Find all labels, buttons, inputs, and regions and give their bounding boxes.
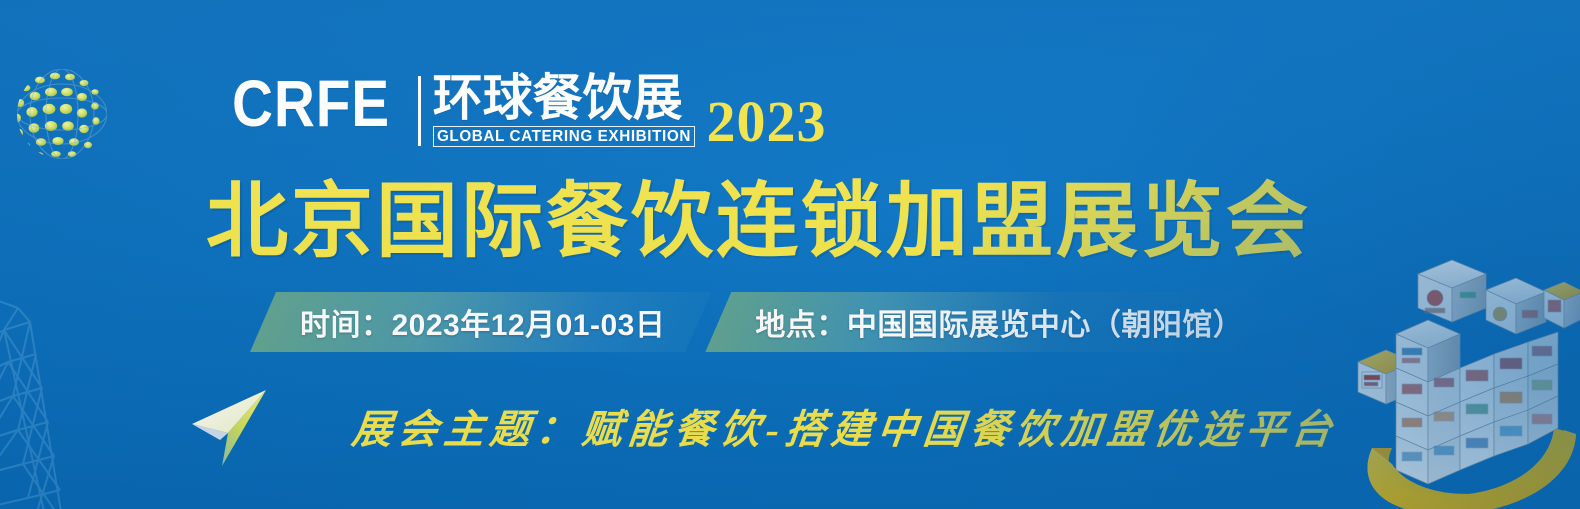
banner-vignette	[0, 0, 1580, 509]
event-banner: CRFE 环球餐饮展 GLOBAL CATERING EXHIBITION 20…	[0, 0, 1580, 509]
